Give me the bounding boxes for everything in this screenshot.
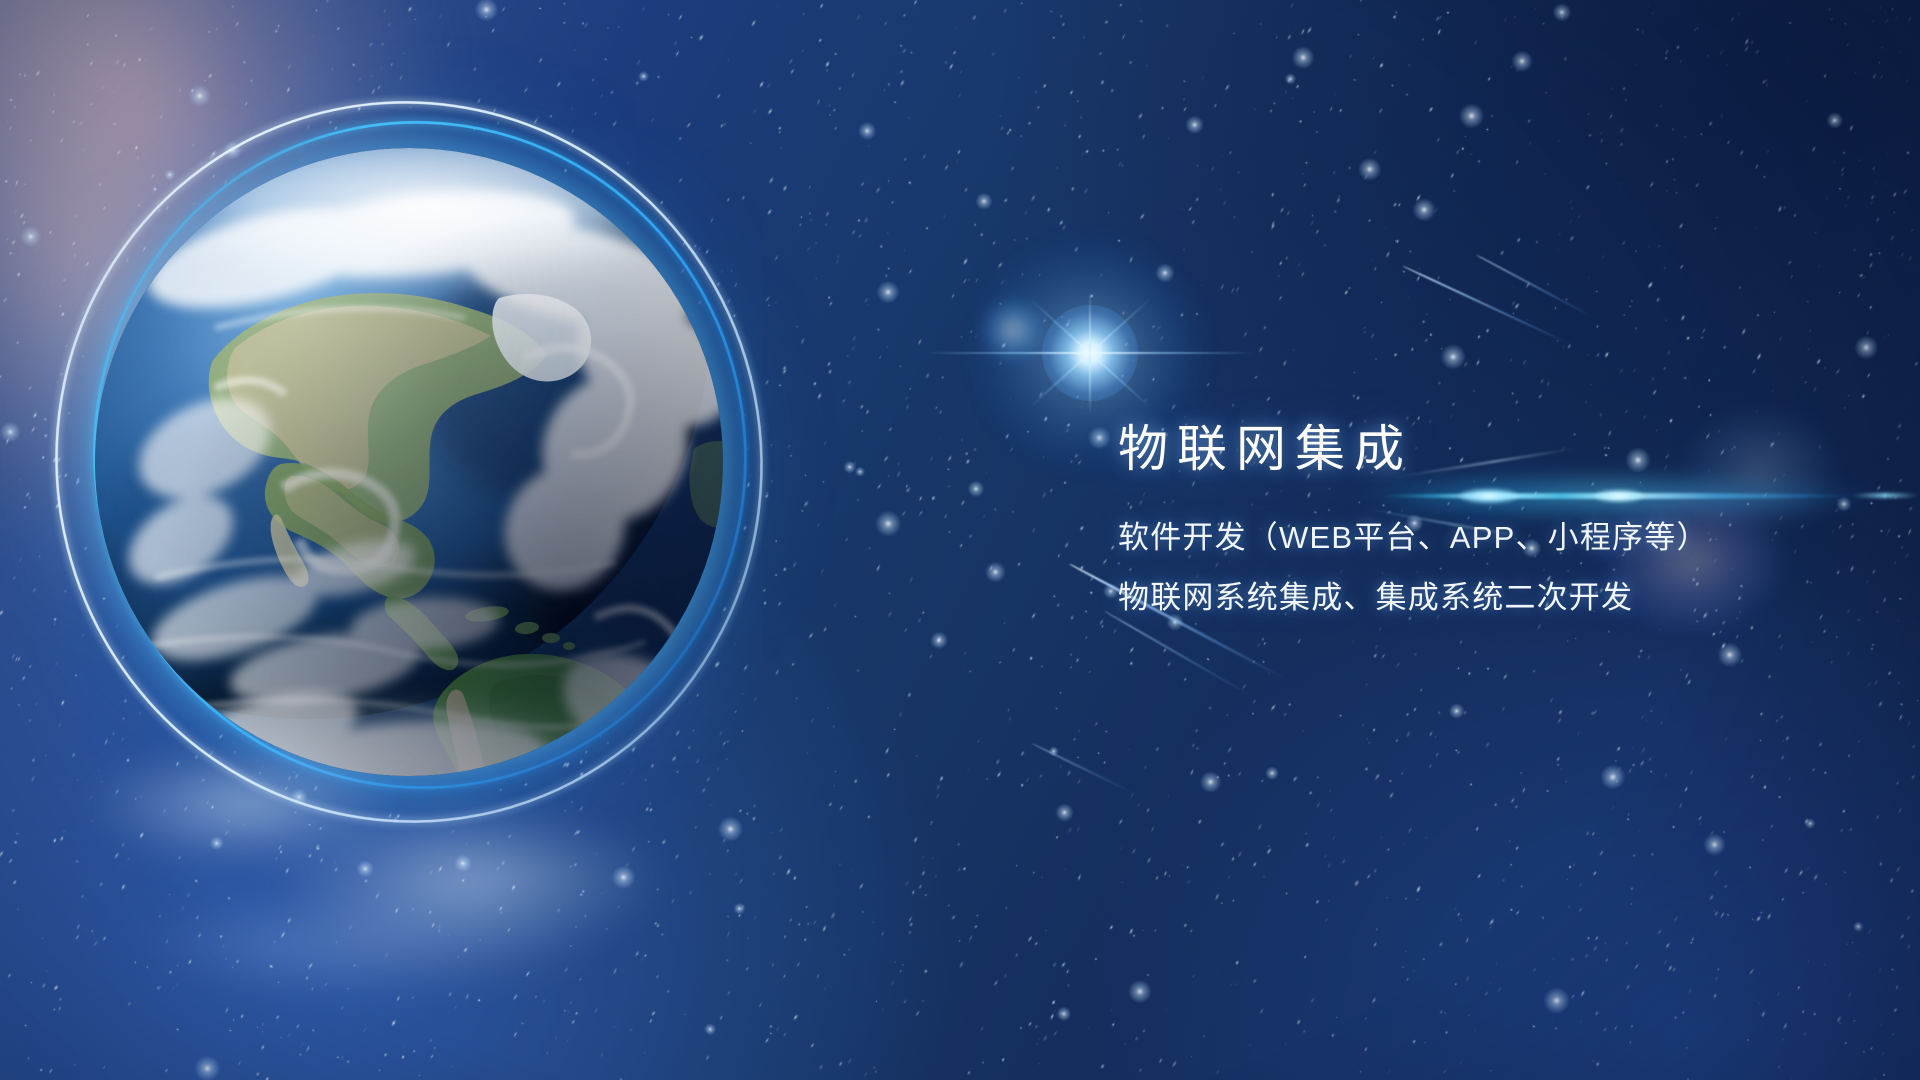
subtitle-line-1: 软件开发（WEB平台、APP、小程序等） — [1118, 508, 1878, 568]
hero-banner: 物联网集成 软件开发（WEB平台、APP、小程序等） 物联网系统集成、集成系统二… — [0, 0, 1920, 1080]
page-title: 物联网集成 — [1118, 424, 1878, 474]
earth-globe — [95, 148, 723, 776]
banner-copy: 物联网集成 软件开发（WEB平台、APP、小程序等） 物联网系统集成、集成系统二… — [1118, 424, 1878, 629]
globe-sphere — [95, 148, 723, 776]
subtitle-line-2: 物联网系统集成、集成系统二次开发 — [1118, 568, 1878, 628]
globe-surface — [95, 148, 723, 776]
banner-subtitle: 软件开发（WEB平台、APP、小程序等） 物联网系统集成、集成系统二次开发 — [1118, 508, 1878, 629]
cloud-mist-reflection — [35, 700, 735, 990]
